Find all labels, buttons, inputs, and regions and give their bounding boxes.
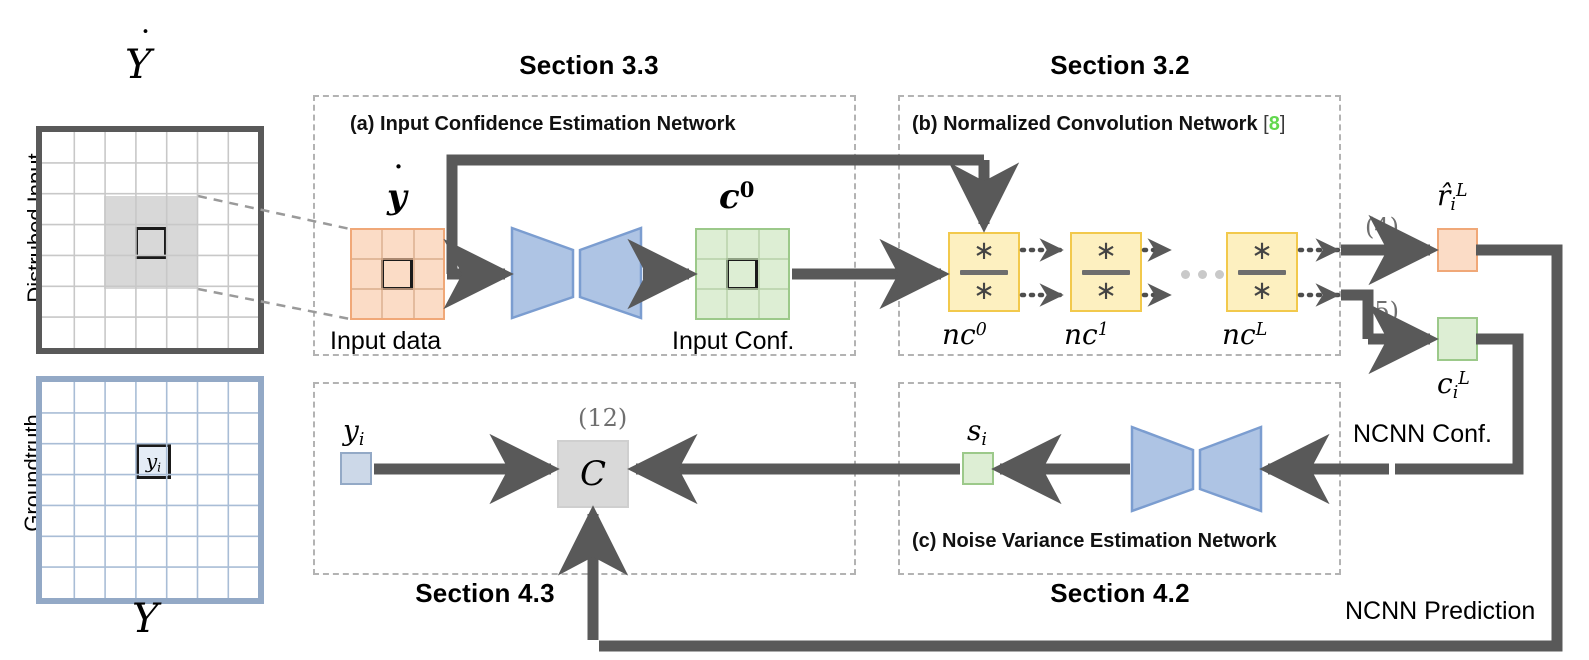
section-title-3-2: Section 3.2	[935, 50, 1305, 81]
nc-block-1-label: nc1	[1064, 318, 1109, 351]
section-title-4-3: Section 4.3	[300, 578, 670, 609]
nc-block-0-label: nc0	[942, 318, 987, 351]
groundtruth-symbol: Y	[132, 596, 158, 642]
fraction-bar	[960, 270, 1008, 275]
dot-accent: ˙	[391, 161, 406, 196]
groundtruth-center-cell: yi	[136, 444, 171, 479]
criterion-node-label: C	[580, 454, 606, 494]
disturbed-input-center-cell	[135, 227, 167, 259]
group-box-c-label: (c) Noise Variance Estimation Network	[912, 530, 1277, 553]
input-conf-center-cell	[726, 258, 758, 290]
nc-ellipsis	[1177, 266, 1228, 284]
groundtruth-grid	[36, 376, 264, 604]
equation-label-4: (4)	[1365, 213, 1399, 241]
fraction-bar	[1082, 270, 1130, 275]
figure-canvas: Distrubed Input Y ˙ Groundtruth yi Y Sec…	[0, 0, 1589, 660]
c-conf-output-box	[1437, 317, 1478, 361]
fraction-bar	[1238, 270, 1286, 275]
y-i-symbol: yi	[343, 414, 364, 450]
input-data-center-cell	[381, 258, 413, 290]
ncnn-conf-caption: NCNN Conf.	[1353, 420, 1492, 449]
elbow-ncL-to-eq5	[1341, 295, 1368, 339]
s-symbol: si	[967, 414, 987, 450]
input-data-symbol: y ˙	[387, 177, 407, 217]
dot-accent: ˙	[137, 24, 154, 64]
citation-8[interactable]: 8	[1269, 113, 1280, 135]
section-title-3-3: Section 3.3	[404, 50, 774, 81]
equation-label-5: (5)	[1365, 297, 1399, 325]
section-title-4-2: Section 4.2	[935, 578, 1305, 609]
group-box-b-label: (b) Normalized Convolution Network [8]	[912, 113, 1285, 136]
criterion-node: C	[557, 440, 629, 508]
nc-block-L-label: ncL	[1222, 318, 1267, 351]
groundtruth-center-cell-label: yi	[146, 449, 161, 474]
equation-label-12: (12)	[578, 404, 627, 432]
nc-block-1: ∗ ∗	[1070, 232, 1142, 312]
r-hat-output-box	[1437, 228, 1478, 272]
group-box-a-label: (a) Input Confidence Estimation Network	[350, 113, 736, 136]
input-data-caption: Input data	[330, 327, 441, 356]
input-conf-symbol: c0	[719, 177, 754, 217]
disturbed-input-symbol: Y ˙	[125, 42, 151, 88]
nc-block-0: ∗ ∗	[948, 232, 1020, 312]
nc-block-L: ∗ ∗	[1226, 232, 1298, 312]
y-i-box	[340, 452, 372, 485]
c-conf-symbol: ciL	[1437, 367, 1470, 403]
ncnn-prediction-caption: NCNN Prediction	[1345, 597, 1535, 626]
r-hat-symbol: r̂iL	[1437, 179, 1467, 215]
s-output-box	[962, 452, 994, 485]
input-conf-caption: Input Conf.	[672, 327, 794, 356]
